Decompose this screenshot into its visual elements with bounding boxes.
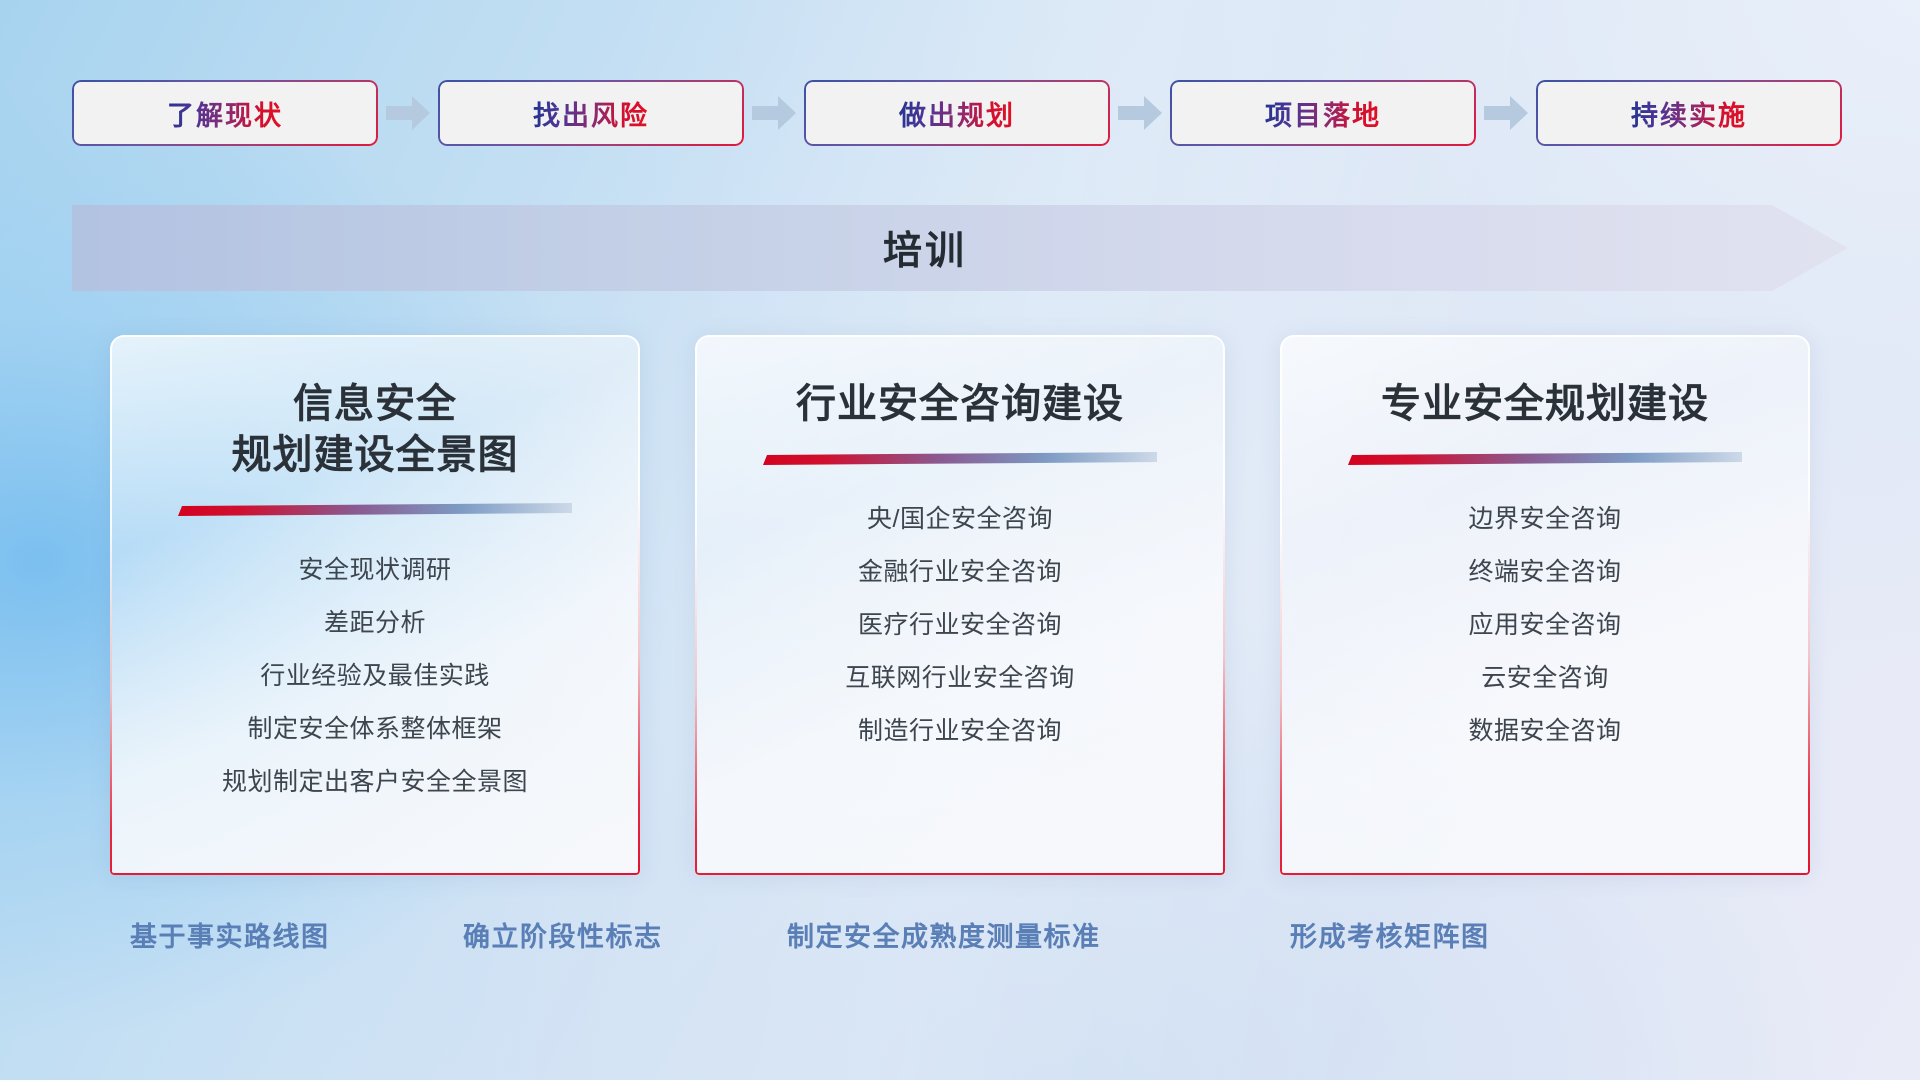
accent-rule-shape: [178, 503, 572, 516]
chevron-right-arrow-icon: [1118, 96, 1162, 130]
card-row: 信息安全 规划建设全景图安全现状调研差距分析行业经验及最佳实践制定安全体系整体框…: [110, 335, 1810, 875]
card-list-item: 央/国企安全咨询: [867, 499, 1053, 540]
step-arrow-1: [378, 96, 438, 130]
footer-label-row: 基于事实路线图确立阶段性标志制定安全成熟度测量标准形成考核矩阵图: [0, 915, 1920, 961]
card-inner: 信息安全 规划建设全景图安全现状调研差距分析行业经验及最佳实践制定安全体系整体框…: [110, 335, 640, 875]
step-arrow-4: [1476, 96, 1536, 130]
process-step-row: 了解现状找出风险做出规划项目落地持续实施: [72, 78, 1848, 148]
step-box-2[interactable]: 找出风险: [438, 80, 744, 146]
step-arrow-2: [744, 96, 804, 130]
footer-label-2: 确立阶段性标志: [463, 915, 663, 954]
service-card-1[interactable]: 信息安全 规划建设全景图安全现状调研差距分析行业经验及最佳实践制定安全体系整体框…: [110, 335, 640, 875]
accent-rule-shape: [763, 452, 1157, 465]
footer-label-4: 形成考核矩阵图: [1290, 915, 1490, 954]
card-title: 信息安全 规划建设全景图: [232, 379, 519, 481]
card-list-item: 医疗行业安全咨询: [858, 605, 1062, 646]
card-item-list: 安全现状调研差距分析行业经验及最佳实践制定安全体系整体框架规划制定出客户安全全景…: [222, 550, 528, 803]
card-inner: 行业安全咨询建设央/国企安全咨询金融行业安全咨询医疗行业安全咨询互联网行业安全咨…: [695, 335, 1225, 875]
step-label: 持续实施: [1631, 94, 1747, 133]
card-list-item: 制造行业安全咨询: [858, 711, 1062, 752]
slide-stage: 了解现状找出风险做出规划项目落地持续实施 培训 信息安全 规划建设全景图安全现状…: [0, 0, 1920, 1080]
accent-rule-shape: [1348, 452, 1742, 465]
footer-label-3: 制定安全成熟度测量标准: [787, 915, 1101, 954]
card-list-item: 终端安全咨询: [1468, 552, 1621, 593]
step-box-3[interactable]: 做出规划: [804, 80, 1110, 146]
step-box-1[interactable]: 了解现状: [72, 80, 378, 146]
chevron-right-arrow-icon: [752, 96, 796, 130]
service-card-3[interactable]: 专业安全规划建设边界安全咨询终端安全咨询应用安全咨询云安全咨询数据安全咨询: [1280, 335, 1810, 875]
card-accent-rule: [178, 503, 572, 516]
card-title: 行业安全咨询建设: [796, 379, 1124, 430]
step-label: 项目落地: [1265, 94, 1381, 133]
service-card-2[interactable]: 行业安全咨询建设央/国企安全咨询金融行业安全咨询医疗行业安全咨询互联网行业安全咨…: [695, 335, 1225, 875]
banner-title: 培训: [72, 205, 1848, 291]
card-list-item: 规划制定出客户安全全景图: [222, 762, 528, 803]
card-list-item: 行业经验及最佳实践: [260, 656, 490, 697]
card-list-item: 数据安全咨询: [1468, 711, 1621, 752]
card-list-item: 制定安全体系整体框架: [247, 709, 502, 750]
footer-label-1: 基于事实路线图: [130, 915, 330, 954]
chevron-right-arrow-icon: [386, 96, 430, 130]
step-box-4[interactable]: 项目落地: [1170, 80, 1476, 146]
step-arrow-3: [1110, 96, 1170, 130]
chevron-right-arrow-icon: [1484, 96, 1528, 130]
card-list-item: 云安全咨询: [1481, 658, 1609, 699]
card-title: 专业安全规划建设: [1381, 379, 1709, 430]
card-list-item: 边界安全咨询: [1468, 499, 1621, 540]
step-label: 做出规划: [899, 94, 1015, 133]
step-box-5[interactable]: 持续实施: [1536, 80, 1842, 146]
card-inner: 专业安全规划建设边界安全咨询终端安全咨询应用安全咨询云安全咨询数据安全咨询: [1280, 335, 1810, 875]
card-item-list: 边界安全咨询终端安全咨询应用安全咨询云安全咨询数据安全咨询: [1468, 499, 1621, 752]
card-list-item: 应用安全咨询: [1468, 605, 1621, 646]
card-list-item: 互联网行业安全咨询: [845, 658, 1075, 699]
step-label: 找出风险: [533, 94, 649, 133]
card-list-item: 安全现状调研: [298, 550, 451, 591]
step-label: 了解现状: [167, 94, 283, 133]
card-accent-rule: [1348, 452, 1742, 465]
training-banner: 培训: [72, 205, 1848, 291]
card-accent-rule: [763, 452, 1157, 465]
card-list-item: 差距分析: [324, 603, 426, 644]
card-list-item: 金融行业安全咨询: [858, 552, 1062, 593]
card-item-list: 央/国企安全咨询金融行业安全咨询医疗行业安全咨询互联网行业安全咨询制造行业安全咨…: [845, 499, 1075, 752]
